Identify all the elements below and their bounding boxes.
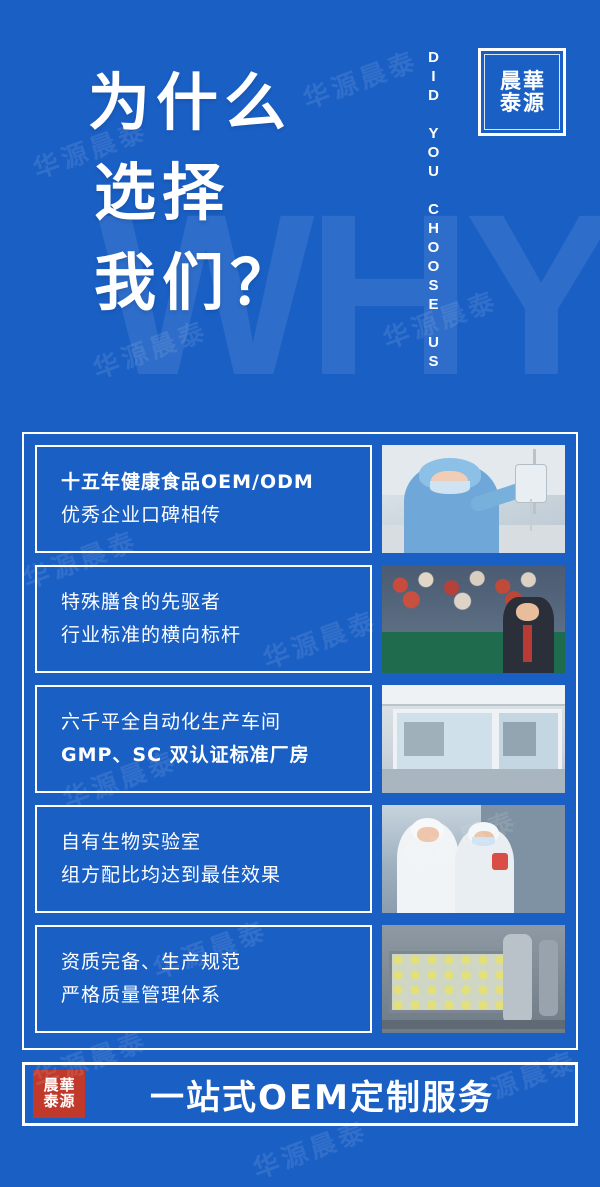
feature-text-box: 六千平全自动化生产车间 GMP、SC 双认证标准厂房 [35,685,372,793]
banner-seal-column-right: 華 源 [60,1078,75,1110]
brand-seal-inner: 華 源 晨 泰 [484,54,560,130]
brand-seal-column-left: 晨 泰 [500,70,521,114]
lab-worker-iv-bag-photo [382,445,565,553]
brand-seal-logo: 華 源 晨 泰 [478,48,566,136]
feature-text-box: 十五年健康食品OEM/ODM 优秀企业口碑相传 [35,445,372,553]
bottom-banner: 華 源 晨 泰 一站式OEM定制服务 [22,1062,578,1126]
feature-line-2: GMP、SC 双认证标准厂房 [61,739,370,772]
feature-list: 十五年健康食品OEM/ODM 优秀企业口碑相传 特殊膳食的先驱者 行业标准的横向… [22,432,578,1050]
feature-row: 六千平全自动化生产车间 GMP、SC 双认证标准厂房 [35,685,565,793]
banner-slogan: 一站式OEM定制服务 [85,1070,575,1119]
feature-line-2: 优秀企业口碑相传 [61,499,370,532]
page-title-line-1: 为什么 [88,58,298,148]
page-title-line-3: 我们？ [88,238,298,328]
banner-seal-column-left: 晨 泰 [43,1078,58,1110]
brand-seal-char-2: 源 [523,92,544,114]
clean-workshop-photo [382,685,565,793]
brand-seal-char-3: 晨 [500,70,521,92]
feature-row: 特殊膳食的先驱者 行业标准的横向标杆 [35,565,565,673]
brand-seal-column-right: 華 源 [523,70,544,114]
hero-section: WHY 为什么 选择 我们？ DID YOU CHOOSE US 華 源 晨 泰 [0,0,600,430]
feature-text-box: 资质完备、生产规范 严格质量管理体系 [35,925,372,1033]
feature-line-1: 特殊膳食的先驱者 [61,586,370,619]
feature-line-2: 组方配比均达到最佳效果 [61,859,370,892]
banner-seal-char-2: 源 [60,1094,75,1110]
feature-line-1: 自有生物实验室 [61,826,370,859]
feature-row: 自有生物实验室 组方配比均达到最佳效果 [35,805,565,913]
feature-text-box: 自有生物实验室 组方配比均达到最佳效果 [35,805,372,913]
feature-line-2: 行业标准的横向标杆 [61,619,370,652]
vertical-subtitle: DID YOU CHOOSE US [418,20,444,400]
brand-seal-char-4: 泰 [500,92,521,114]
feature-line-1: 资质完备、生产规范 [61,946,370,979]
banner-seal-char-4: 泰 [43,1094,58,1110]
banner-seal-logo: 華 源 晨 泰 [33,1070,85,1118]
brand-seal-char-1: 華 [523,70,544,92]
feature-line-1: 十五年健康食品OEM/ODM [61,466,370,499]
conference-hall-photo [382,565,565,673]
feature-text-box: 特殊膳食的先驱者 行业标准的横向标杆 [35,565,372,673]
feature-line-1: 六千平全自动化生产车间 [61,706,370,739]
feature-line-2: 严格质量管理体系 [61,979,370,1012]
feature-row: 十五年健康食品OEM/ODM 优秀企业口碑相传 [35,445,565,553]
page-title-line-2: 选择 [88,148,298,238]
page-title: 为什么 选择 我们？ [88,58,298,328]
two-workers-production-photo [382,805,565,913]
feature-row: 资质完备、生产规范 严格质量管理体系 [35,925,565,1033]
tablet-press-machine-photo [382,925,565,1033]
